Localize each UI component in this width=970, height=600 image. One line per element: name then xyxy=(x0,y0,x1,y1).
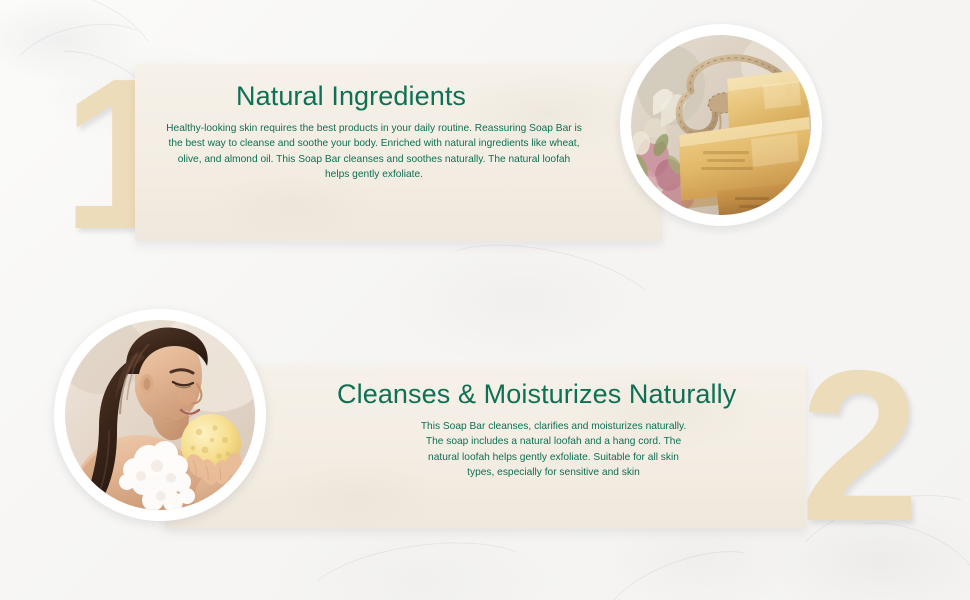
section-body-1: Healthy-looking skin requires the best p… xyxy=(166,121,582,182)
section-heading-1: Natural Ingredients xyxy=(236,81,466,112)
marble-vein xyxy=(295,529,547,600)
section-heading-2: Cleanses & Moisturizes Naturally xyxy=(337,379,736,410)
infographic-canvas: 1 Natural Ingredients Healthy-looking sk… xyxy=(0,0,970,600)
soap-bars-photo xyxy=(620,24,822,226)
marble-vein xyxy=(423,227,668,361)
section-number-2: 2 xyxy=(800,338,915,553)
shower-woman-photo xyxy=(54,309,266,521)
soap-bars-photo-image xyxy=(631,35,811,215)
marble-vein xyxy=(593,533,779,600)
shower-woman-photo-image xyxy=(65,320,255,510)
section-body-2: This Soap Bar cleanses, clarifies and mo… xyxy=(416,419,691,480)
